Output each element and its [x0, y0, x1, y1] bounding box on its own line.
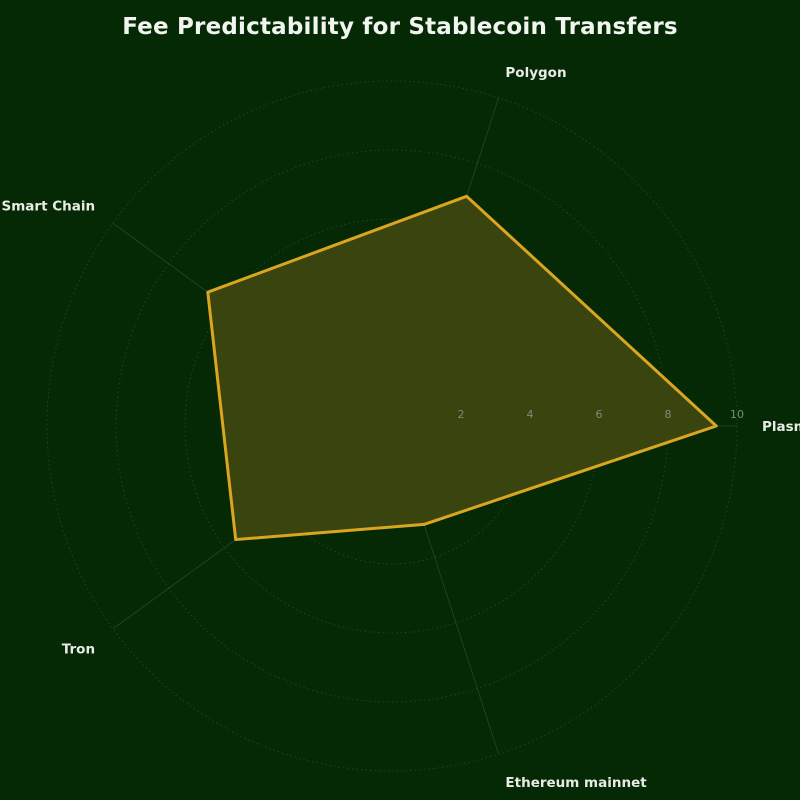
radial-tick-label: 2 — [458, 408, 465, 421]
radar-chart-figure: Fee Predictability for Stablecoin Transf… — [0, 0, 800, 800]
category-label-plasma: Plasma — [762, 419, 800, 435]
radial-tick-label: 10 — [730, 408, 744, 421]
category-label-tron: Tron — [62, 642, 95, 658]
radial-tick-label: 4 — [527, 408, 534, 421]
category-label-ethereum-mainnet: Ethereum mainnet — [505, 775, 647, 791]
series-fill — [208, 196, 717, 539]
radial-tick-label: 8 — [665, 408, 672, 421]
category-label-polygon: Polygon — [505, 65, 566, 81]
radar-plot-area: 246810 PlasmaPolygonBNB Smart ChainTronE… — [0, 0, 800, 800]
category-label-bnb-smart-chain: BNB Smart Chain — [0, 198, 95, 214]
radial-tick-label: 6 — [596, 408, 603, 421]
data-polygon-group — [208, 196, 717, 539]
